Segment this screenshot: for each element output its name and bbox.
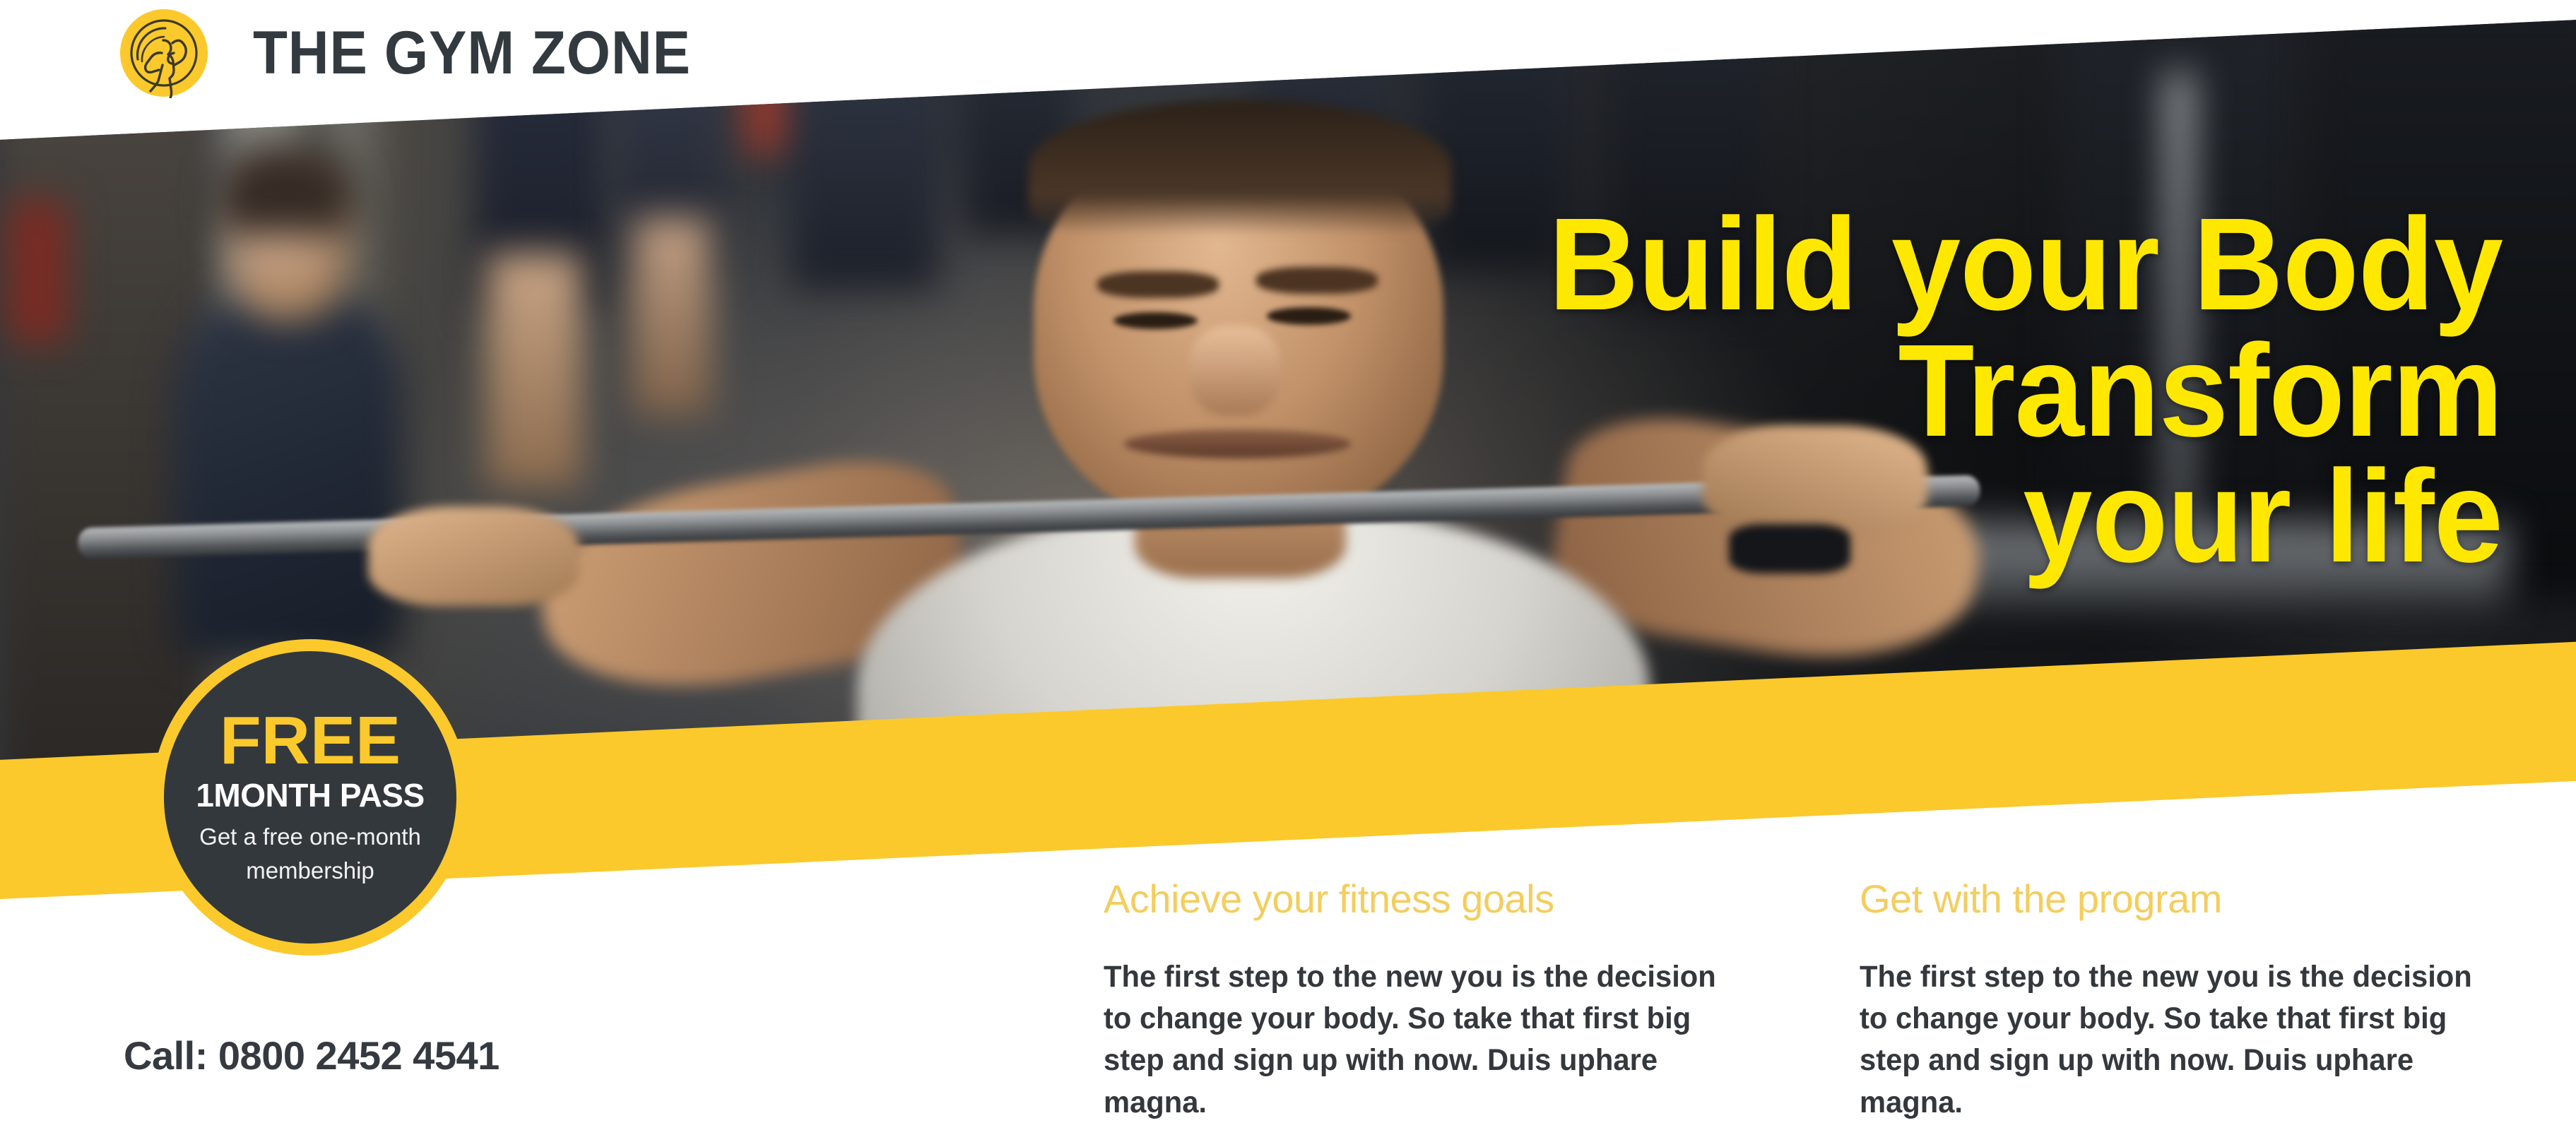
photo-detail-bystander-legs [632,217,711,416]
photo-detail-spotter-hair [218,145,355,235]
photo-detail-athlete-mouth [1124,429,1352,458]
info-columns: Achieve your fitness goals The first ste… [1104,877,2517,1124]
photo-detail-athlete-brow [1097,271,1219,298]
photo-detail-spotter-body [172,298,405,660]
photo-detail-accent [8,199,66,344]
column-heading: Achieve your fitness goals [1104,877,1754,921]
info-column: Achieve your fitness goals The first ste… [1104,877,1754,1124]
headline-line-2: Transform [1361,328,2503,455]
brand-title: THE GYM ZONE [253,23,691,83]
photo-detail-athlete-eye [1267,307,1352,324]
column-body: The first step to the new you is the dec… [1860,956,2490,1124]
photo-detail-athlete-nose [1190,326,1280,416]
photo-detail-bystander-legs [487,253,582,488]
flexing-bodybuilder-icon [119,8,209,98]
page-header: THE GYM ZONE [0,0,2576,106]
headline-line-1: Build your Body [1361,202,2503,328]
photo-detail-athlete-brow [1256,267,1378,294]
free-pass-badge[interactable]: FREE 1MONTH PASS Get a free one-month me… [152,639,468,956]
photo-detail-athlete-hand [368,506,579,606]
badge-free-label: FREE [220,707,401,775]
poster-root: THE GYM ZONE [0,0,2576,1142]
hero-headline: Build your Body Transform your life [1361,202,2503,581]
headline-line-3: your life [1361,454,2503,581]
column-heading: Get with the program [1860,877,2510,921]
column-body: The first step to the new you is the dec… [1104,956,1734,1124]
photo-detail-athlete-eye [1113,312,1198,329]
contact-phone[interactable]: Call: 0800 2452 4541 [124,1033,500,1078]
badge-description: Get a free one-month membership [188,820,432,888]
info-column: Get with the program The first step to t… [1860,877,2510,1124]
badge-pass-label: 1MONTH PASS [196,778,424,814]
